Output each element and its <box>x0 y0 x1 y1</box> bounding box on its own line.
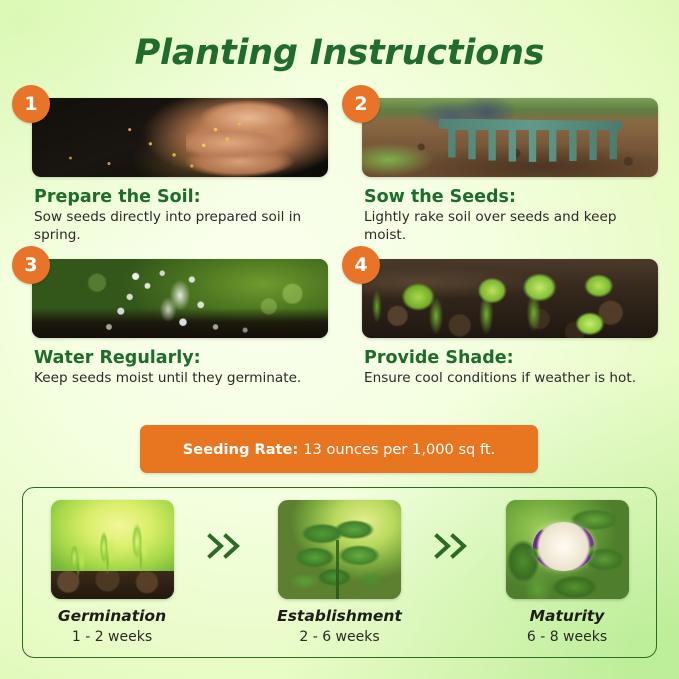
step-card-1: 1 Prepare the Soil: Sow seeds directly i… <box>22 98 328 245</box>
steps-row-top: 1 Prepare the Soil: Sow seeds directly i… <box>22 98 659 245</box>
flower-thumbnail-image <box>506 500 629 599</box>
step-photo-3 <box>32 259 328 338</box>
step-heading-4: Provide Shade: <box>364 348 660 368</box>
double-chevron-right-icon-2 <box>426 500 480 559</box>
step-body-2: Lightly rake soil over seeds and keep mo… <box>364 209 660 245</box>
step-photo-2 <box>362 98 658 177</box>
timeline-stage-duration-1: 1 - 2 weeks <box>37 629 187 645</box>
step-photo-4 <box>362 259 658 338</box>
step-text-1: Prepare the Soil: Sow seeds directly int… <box>34 187 330 245</box>
watering-droplets-image <box>32 259 328 338</box>
step-card-3: 3 Water Regularly: Keep seeds moist unti… <box>22 259 328 388</box>
young-plant-thumbnail-image <box>278 500 401 599</box>
step-number-badge-1: 1 <box>12 85 50 123</box>
steps-row-spacer <box>22 245 659 259</box>
step-text-4: Provide Shade: Ensure cool conditions if… <box>364 348 660 388</box>
seeding-rate-label: Seeding Rate: <box>183 441 298 458</box>
timeline-stage-duration-3: 6 - 8 weeks <box>492 629 642 645</box>
timeline-thumb-maturity <box>506 500 629 599</box>
timeline-stage-duration-2: 2 - 6 weeks <box>265 629 415 645</box>
timeline-thumb-establishment <box>278 500 401 599</box>
step-text-3: Water Regularly: Keep seeds moist until … <box>34 348 330 388</box>
double-chevron-right-icon-1 <box>199 500 253 559</box>
step-heading-1: Prepare the Soil: <box>34 187 330 207</box>
timeline-stage-name-2: Establishment <box>265 607 415 625</box>
step-text-2: Sow the Seeds: Lightly rake soil over se… <box>364 187 660 245</box>
timeline-thumb-germination <box>51 500 174 599</box>
step-heading-3: Water Regularly: <box>34 348 330 368</box>
steps-row-bottom: 3 Water Regularly: Keep seeds moist unti… <box>22 259 659 388</box>
garden-rake-image <box>362 98 658 177</box>
steps-grid: 1 Prepare the Soil: Sow seeds directly i… <box>22 98 659 388</box>
seeding-rate-banner: Seeding Rate: 13 ounces per 1,000 sq ft. <box>140 425 538 473</box>
page-title: Planting Instructions <box>0 33 679 73</box>
step-body-3: Keep seeds moist until they germinate. <box>34 370 330 388</box>
timeline-stage-germination: Germination 1 - 2 weeks <box>37 500 187 645</box>
step-photo-1 <box>32 98 328 177</box>
seedlings-sprouting-image <box>362 259 658 338</box>
step-heading-2: Sow the Seeds: <box>364 187 660 207</box>
timeline-stage-name-3: Maturity <box>492 607 642 625</box>
step-body-1: Sow seeds directly into prepared soil in… <box>34 209 330 245</box>
growth-timeline: Germination 1 - 2 weeks Establishment 2 … <box>22 487 657 658</box>
seeding-rate-value: 13 ounces per 1,000 sq ft. <box>303 441 495 458</box>
step-number-badge-2: 2 <box>342 85 380 123</box>
timeline-stage-maturity: Maturity 6 - 8 weeks <box>492 500 642 645</box>
step-card-2: 2 Sow the Seeds: Lightly rake soil over … <box>352 98 658 245</box>
seedlings-thumbnail-image <box>51 500 174 599</box>
hand-sowing-seeds-image <box>32 98 328 177</box>
step-number-badge-4: 4 <box>342 246 380 284</box>
timeline-stage-name-1: Germination <box>37 607 187 625</box>
step-body-4: Ensure cool conditions if weather is hot… <box>364 370 660 388</box>
step-card-4: 4 Provide Shade: Ensure cool conditions … <box>352 259 658 388</box>
planting-instructions-poster: Planting Instructions 1 Prepare the Soil… <box>0 0 679 679</box>
step-number-badge-3: 3 <box>12 246 50 284</box>
timeline-stage-establishment: Establishment 2 - 6 weeks <box>265 500 415 645</box>
